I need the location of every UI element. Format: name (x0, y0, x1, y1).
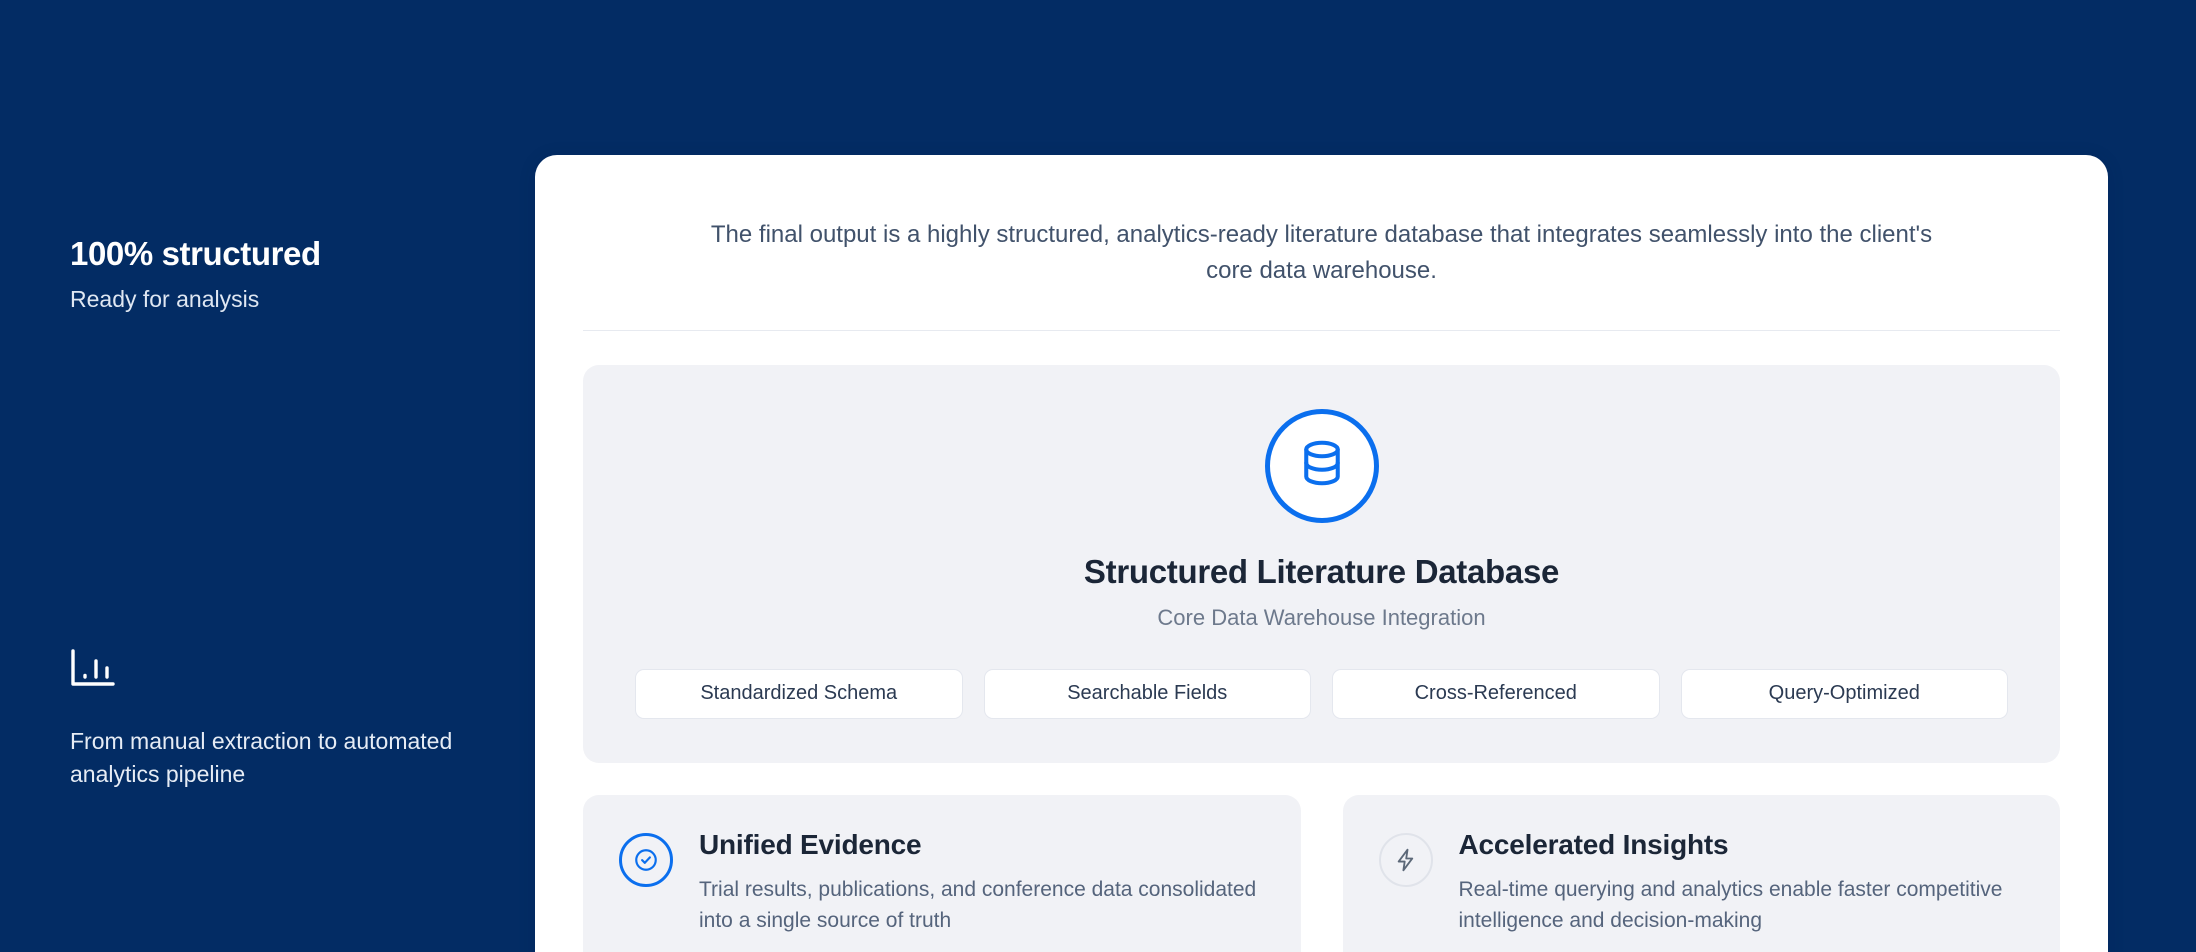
sidebar-footer-text: From manual extraction to automated anal… (70, 725, 470, 790)
feature-description: Real-time querying and analytics enable … (1459, 875, 2025, 936)
tag-label: Standardized Schema (700, 682, 897, 705)
section-divider (583, 330, 2060, 331)
database-icon (1295, 436, 1349, 495)
hero-title: Structured Literature Database (635, 553, 2008, 591)
sidebar-stat-block: 100% structured Ready for analysis (70, 236, 490, 314)
feature-card-unified-evidence: Unified Evidence Trial results, publicat… (583, 795, 1301, 952)
tag-label: Searchable Fields (1067, 682, 1227, 705)
content-card: The final output is a highly structured,… (535, 155, 2108, 952)
tag-list: Standardized Schema Searchable Fields Cr… (635, 669, 2008, 719)
main-area: The final output is a highly structured,… (535, 0, 2196, 952)
card-intro-text: The final output is a highly structured,… (583, 217, 2060, 290)
tag-searchable-fields[interactable]: Searchable Fields (984, 669, 1312, 719)
database-icon-ring (1265, 409, 1379, 523)
tag-standardized-schema[interactable]: Standardized Schema (635, 669, 963, 719)
slide-root: 100% structured Ready for analysis From … (0, 0, 2196, 952)
feature-title: Unified Evidence (699, 829, 1265, 861)
tag-cross-referenced[interactable]: Cross-Referenced (1332, 669, 1660, 719)
sidebar-footer-block: From manual extraction to automated anal… (70, 648, 470, 790)
tag-label: Query-Optimized (1769, 682, 1920, 705)
hero-subtitle: Core Data Warehouse Integration (635, 605, 2008, 631)
hero-icon-wrap (635, 409, 2008, 523)
feature-description: Trial results, publications, and confere… (699, 875, 1265, 936)
tag-label: Cross-Referenced (1415, 682, 1577, 705)
feature-card-list: Unified Evidence Trial results, publicat… (583, 795, 2060, 952)
check-circle-icon (619, 833, 673, 887)
feature-card-accelerated-insights: Accelerated Insights Real-time querying … (1343, 795, 2061, 952)
hero-panel: Structured Literature Database Core Data… (583, 365, 2060, 763)
feature-body: Accelerated Insights Real-time querying … (1459, 829, 2025, 936)
tag-query-optimized[interactable]: Query-Optimized (1681, 669, 2009, 719)
feature-body: Unified Evidence Trial results, publicat… (699, 829, 1265, 936)
bar-chart-icon (70, 648, 470, 695)
lightning-bolt-icon (1379, 833, 1433, 887)
sidebar: 100% structured Ready for analysis From … (0, 0, 535, 952)
stat-label: Ready for analysis (70, 286, 490, 314)
feature-title: Accelerated Insights (1459, 829, 2025, 861)
stat-value: 100% structured (70, 236, 490, 272)
